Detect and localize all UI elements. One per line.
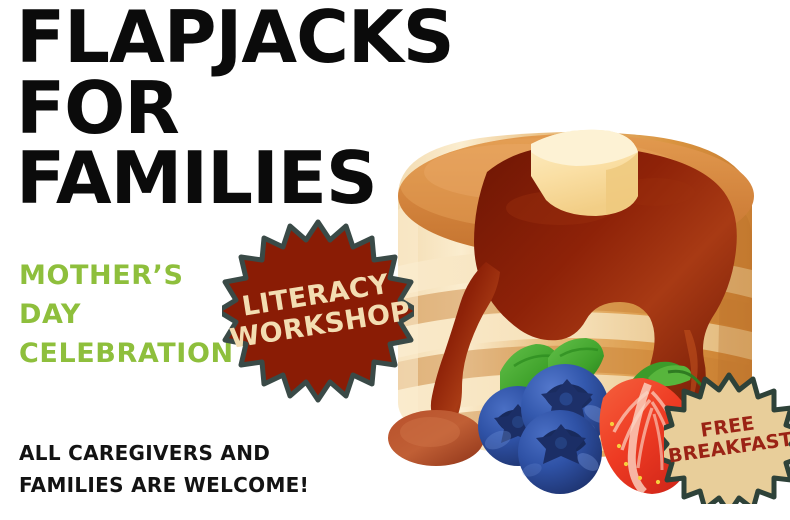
event-subtitle: MOTHER’S DAY CELEBRATION [19,256,234,373]
badge-free-breakfast[interactable]: FREE BREAKFAST [664,371,790,504]
page-title: FLAPJACKS FOR FAMILIES [16,2,446,214]
welcome-note: ALL CAREGIVERS AND FAMILIES ARE WELCOME! [19,437,309,502]
starburst-shape-icon [664,371,790,504]
badge-literacy-workshop[interactable]: LITERACY WORKSHOP [222,216,414,406]
starburst-shape-icon [222,216,414,406]
poster-canvas: FLAPJACKS FOR FAMILIES MOTHER’S DAY CELE… [0,0,790,520]
